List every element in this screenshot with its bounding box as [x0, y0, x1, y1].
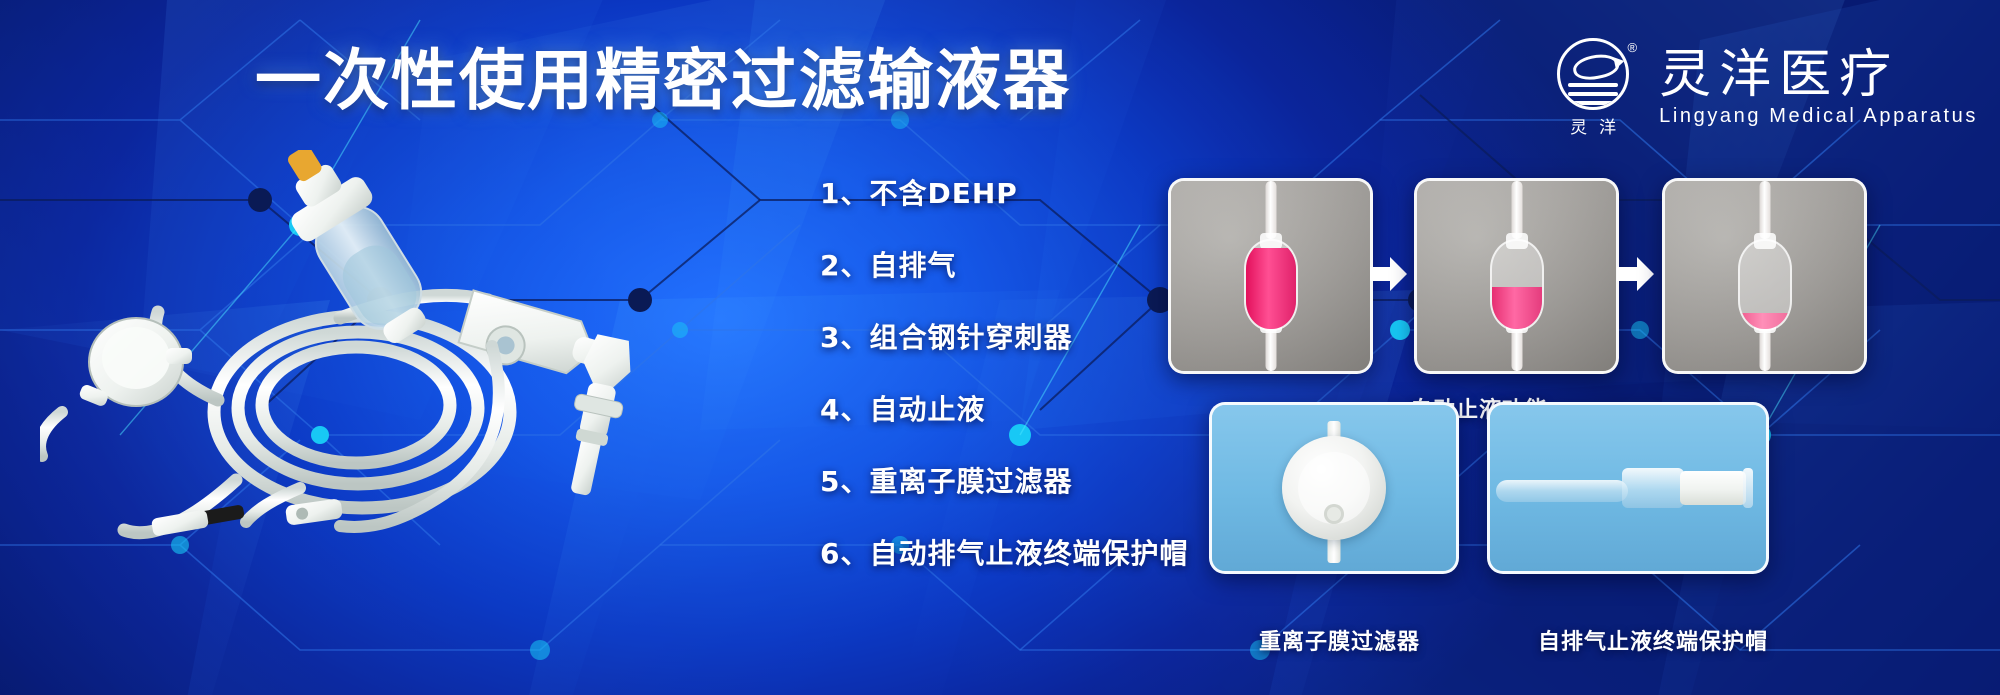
detail-photo-filter [1209, 402, 1459, 574]
liquid-fill-1 [1246, 248, 1296, 329]
registered-mark: ® [1628, 40, 1638, 55]
detail-caption-filter: 重离子膜过滤器 [1259, 624, 1420, 656]
right-arrow-icon [1366, 252, 1410, 296]
detail-photo-protector-cap [1487, 402, 1769, 574]
feature-list: 1、不含DEHP 2、自排气 3、组合钢针穿刺器 4、自动止液 5、重离子膜过滤… [820, 172, 1188, 572]
feature-item-2: 2、自排气 [820, 244, 1188, 284]
feature-item-4: 4、自动止液 [820, 388, 1188, 428]
demo-frame-2 [1414, 178, 1619, 374]
brand-lockup: ® 灵洋 灵洋医疗 Lingyang Medical Apparatus [1547, 38, 1978, 138]
feature-item-5: 5、重离子膜过滤器 [820, 460, 1188, 500]
detail-caption-protector-cap: 自排气止液终端保护帽 [1538, 624, 1768, 656]
right-arrow-icon-2 [1613, 252, 1657, 296]
brand-name-block: 灵洋医疗 Lingyang Medical Apparatus [1659, 48, 1978, 128]
demo-frame-1 [1168, 178, 1373, 374]
fish-wave-seal-icon [1557, 38, 1629, 110]
feature-item-6: 6、自动排气止液终端保护帽 [820, 532, 1188, 572]
brand-name-en: Lingyang Medical Apparatus [1659, 105, 1978, 128]
feature-item-1: 1、不含DEHP [820, 172, 1188, 212]
brand-seal-text: 灵洋 [1547, 113, 1639, 138]
hero-product-photo [40, 150, 700, 550]
page-title: 一次性使用精密过滤输液器 [255, 48, 1071, 114]
liquid-fill-2 [1492, 287, 1542, 329]
brand-seal: ® 灵洋 [1547, 38, 1639, 138]
product-banner: 一次性使用精密过滤输液器 ® 灵洋 灵洋医疗 Lingyang Medical … [0, 0, 2000, 695]
brand-name-cn: 灵洋医疗 [1659, 48, 1978, 103]
liquid-fill-3 [1740, 313, 1790, 329]
demo-frame-3 [1662, 178, 1867, 374]
feature-item-3: 3、组合钢针穿刺器 [820, 316, 1188, 356]
